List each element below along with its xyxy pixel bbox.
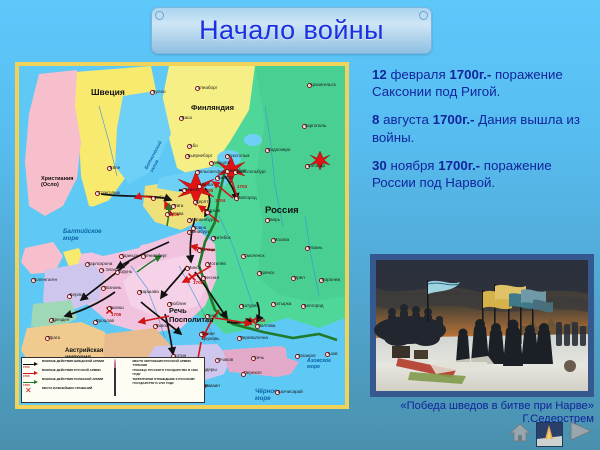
legend-symbol-swatch-green xyxy=(114,369,131,377)
legend-label: Территории отошедшие к русскому государс… xyxy=(133,378,204,385)
map-city-dot xyxy=(153,324,158,329)
legend-symbol-swatch-cyan xyxy=(114,378,131,386)
map-city-dot xyxy=(119,254,124,259)
historical-map: ШвецияФинляндияРоссияРечь ПосполитаяАвст… xyxy=(15,62,349,409)
map-city-dot xyxy=(195,86,200,91)
map-city-dot xyxy=(167,302,172,307)
map-city-dot xyxy=(185,266,190,271)
slide-title-banner: Начало войны xyxy=(151,7,432,54)
map-city-dot xyxy=(185,154,190,159)
map-city-dot xyxy=(305,164,310,169)
home-icon[interactable] xyxy=(509,422,531,447)
map-city-dot xyxy=(101,286,106,291)
facts-list: 12 февраля 1700г.- поражение Саксонии по… xyxy=(372,66,596,202)
legend-row: 1700Боевые действия русской армии xyxy=(23,369,113,377)
map-city-dot xyxy=(295,354,300,359)
map-city-dot xyxy=(107,166,112,171)
painting-vector xyxy=(370,254,594,397)
map-city-dot xyxy=(205,210,210,215)
legend-symbol-circle-pink xyxy=(114,360,131,368)
map-city-dot xyxy=(225,169,230,174)
map-city-dot xyxy=(99,268,104,273)
map-city-dot xyxy=(165,212,170,217)
map-city-dot xyxy=(45,336,50,341)
map-city-dot xyxy=(187,218,192,223)
map-city-dot xyxy=(319,278,324,283)
legend-row: 1700Боевые действия шведской армии xyxy=(23,360,113,368)
legend-label: Граница русского государства в 1699 году xyxy=(133,369,204,376)
map-city-dot xyxy=(225,154,230,159)
map-city-dot xyxy=(302,124,307,129)
map-city-dot xyxy=(251,356,256,361)
map-city-dot xyxy=(241,372,246,377)
map-city-dot xyxy=(291,276,296,281)
map-city-dot xyxy=(205,262,210,267)
next-slide-arrow[interactable] xyxy=(568,420,594,447)
map-city-dot xyxy=(257,271,262,276)
legend-column-right: Место окружения русской армии туркамиГра… xyxy=(114,360,204,400)
map-city-dot xyxy=(325,352,330,357)
map-city-dot xyxy=(141,254,146,259)
banner-knob-left xyxy=(155,11,164,20)
fact-denmark: 8 августа 1700г.- Дания вышла из войны. xyxy=(372,111,596,145)
map-city-dot xyxy=(265,148,270,153)
fact-narva: 30 ноября 1700г.- поражение России под Н… xyxy=(372,157,596,191)
legend-label: Боевые действия русской армии xyxy=(42,369,101,373)
legend-row: 1700Боевые действия польской армии xyxy=(23,378,113,386)
map-city-dot xyxy=(255,324,260,329)
map-city-dot xyxy=(233,170,238,175)
map-city-dot xyxy=(239,304,244,309)
slide-root: Начало войны xyxy=(0,0,600,450)
map-city-dot xyxy=(85,262,90,267)
legend-row: ✕Места важнейших сражений xyxy=(23,387,113,395)
map-city-dot xyxy=(115,270,120,275)
map-city-dot xyxy=(93,320,98,325)
slide-thumbnail[interactable] xyxy=(536,422,563,447)
map-city-dot xyxy=(301,304,306,309)
legend-row: Место окружения русской армии турками xyxy=(114,360,204,368)
map-city-dot xyxy=(307,83,312,88)
legend-symbol-arrow-red: 1700 xyxy=(23,369,40,377)
legend-label: Место окружения русской армии турками xyxy=(133,360,204,367)
map-city-dot xyxy=(179,116,184,121)
map-city-dot xyxy=(305,246,310,251)
map-city-dot xyxy=(197,248,202,253)
map-city-dot xyxy=(271,302,276,307)
legend-symbol-arrow-black: 1700 xyxy=(23,360,40,368)
map-city-dot xyxy=(107,306,112,311)
legend-label: Боевые действия шведской армии xyxy=(42,360,104,364)
map-city-dot xyxy=(150,90,155,95)
map-city-dot xyxy=(197,184,202,189)
map-city-dot xyxy=(182,188,187,193)
map-city-dot xyxy=(67,294,72,299)
map-city-dot xyxy=(151,196,156,201)
map-city-dot xyxy=(215,358,220,363)
map-city-dot xyxy=(137,290,142,295)
map-city-dot xyxy=(237,336,242,341)
map-city-dot xyxy=(191,226,196,231)
map-city-dot xyxy=(187,230,192,235)
map-city-dot xyxy=(211,236,216,241)
map-city-dot xyxy=(171,204,176,209)
map-city-dot xyxy=(234,196,239,201)
legend-symbol-arrow-green: 1700 xyxy=(23,378,40,386)
map-city-dot xyxy=(209,161,214,166)
legend-label: Места важнейших сражений xyxy=(42,387,92,391)
map-city-dot xyxy=(275,390,280,395)
legend-row: Территории отошедшие к русскому государс… xyxy=(114,378,204,386)
banner-knob-right xyxy=(419,11,428,20)
map-city-dot xyxy=(31,278,36,283)
map-city-dot xyxy=(193,200,198,205)
map-city-dot xyxy=(271,238,276,243)
map-city-dot xyxy=(95,191,100,196)
map-city-dot xyxy=(215,176,220,181)
map-city-dot xyxy=(205,314,210,319)
battle-painting xyxy=(370,254,594,397)
map-city-dot xyxy=(241,254,246,259)
legend-row: Граница русского государства в 1699 году xyxy=(114,369,204,377)
map-city-dot xyxy=(195,170,200,175)
legend-label: Боевые действия польской армии xyxy=(42,378,103,382)
legend-column-left: 1700Боевые действия шведской армии1700Бо… xyxy=(23,360,113,400)
legend-symbol-cross-red: ✕ xyxy=(23,387,40,395)
page-title: Начало войны xyxy=(199,15,384,46)
map-city-dot xyxy=(49,318,54,323)
map-city-dot xyxy=(265,218,270,223)
slide-nav xyxy=(509,420,594,447)
map-city-dot xyxy=(187,144,192,149)
fact-riga: 12 февраля 1700г.- поражение Саксонии по… xyxy=(372,66,596,100)
map-city-dot xyxy=(201,276,206,281)
map-legend: 1700Боевые действия шведской армии1700Бо… xyxy=(21,357,205,403)
map-city-dot xyxy=(199,332,204,337)
